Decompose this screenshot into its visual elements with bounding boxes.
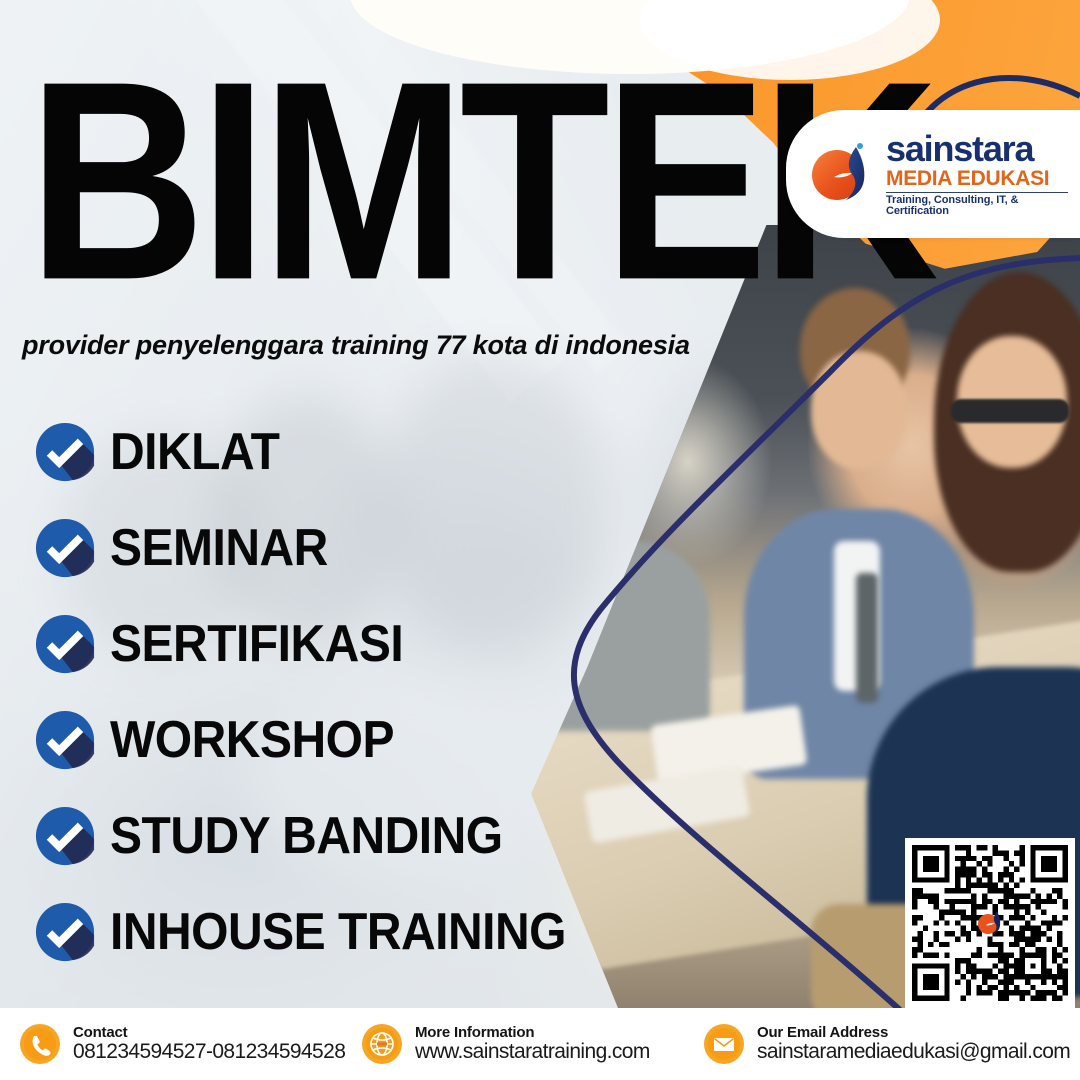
poster-canvas: BIMTEK provider penyelenggara training 7… xyxy=(0,0,1080,1080)
footer-contact-text: Contact 081234594527-081234594528 xyxy=(73,1025,345,1064)
list-item: DIKLAT xyxy=(34,404,566,500)
footer-contact-item[interactable]: Contact 081234594527-081234594528 xyxy=(18,1022,348,1066)
footer-website-value: www.sainstaratraining.com xyxy=(415,1041,650,1064)
list-item-label: WORKSHOP xyxy=(110,710,394,769)
contact-footer: Contact 081234594527-081234594528 xyxy=(0,1008,1080,1080)
list-item-label: STUDY BANDING xyxy=(110,806,503,865)
footer-contact-value: 081234594527-081234594528 xyxy=(73,1041,345,1064)
list-item-label: SEMINAR xyxy=(110,518,328,577)
footer-email-text: Our Email Address sainstaramediaedukasi@… xyxy=(757,1025,1070,1064)
brand-logo-text: sainstara MEDIA EDUKASI Training, Consul… xyxy=(886,131,1080,217)
footer-email-value: sainstaramediaedukasi@gmail.com xyxy=(757,1041,1070,1064)
check-circle-icon xyxy=(34,901,96,963)
brand-divider xyxy=(886,192,1068,193)
list-item: SEMINAR xyxy=(34,500,566,596)
page-subtitle: provider penyelenggara training 77 kota … xyxy=(22,330,690,361)
list-item-label: DIKLAT xyxy=(110,422,279,481)
footer-email-title: Our Email Address xyxy=(757,1025,1070,1041)
photo-person-face xyxy=(811,351,907,469)
photo-tie xyxy=(856,573,878,703)
list-item: STUDY BANDING xyxy=(34,788,566,884)
brand-name: sainstara xyxy=(886,128,1033,169)
brand-logo: sainstara MEDIA EDUKASI Training, Consul… xyxy=(786,110,1080,238)
check-circle-icon xyxy=(34,421,96,483)
list-item: INHOUSE TRAINING xyxy=(34,884,566,980)
list-item: SERTIFIKASI xyxy=(34,596,566,692)
check-circle-icon xyxy=(34,613,96,675)
footer-email-item[interactable]: Our Email Address sainstaramediaedukasi@… xyxy=(702,1022,1070,1066)
footer-website-item[interactable]: More Information www.sainstaratraining.c… xyxy=(360,1022,690,1066)
sainstara-flame-logo-icon xyxy=(804,137,878,211)
qr-center-logo-icon xyxy=(975,908,1005,938)
brand-tagline: Training, Consulting, IT, & Certificatio… xyxy=(886,195,1080,217)
qr-code[interactable] xyxy=(905,838,1075,1008)
check-circle-icon xyxy=(34,709,96,771)
footer-website-text: More Information www.sainstaratraining.c… xyxy=(415,1025,650,1064)
check-circle-icon xyxy=(34,805,96,867)
list-item: WORKSHOP xyxy=(34,692,566,788)
brand-subname: MEDIA EDUKASI xyxy=(886,168,1080,189)
check-circle-icon xyxy=(34,517,96,579)
footer-website-title: More Information xyxy=(415,1025,650,1041)
list-item-label: INHOUSE TRAINING xyxy=(110,902,566,961)
email-icon xyxy=(702,1022,746,1066)
list-item-label: SERTIFIKASI xyxy=(110,614,403,673)
globe-icon xyxy=(360,1022,404,1066)
phone-icon xyxy=(18,1022,62,1066)
footer-contact-title: Contact xyxy=(73,1025,345,1041)
photo-glasses xyxy=(951,399,1069,423)
services-list: DIKLAT SEMINAR SERTIFIKASI xyxy=(34,404,566,980)
